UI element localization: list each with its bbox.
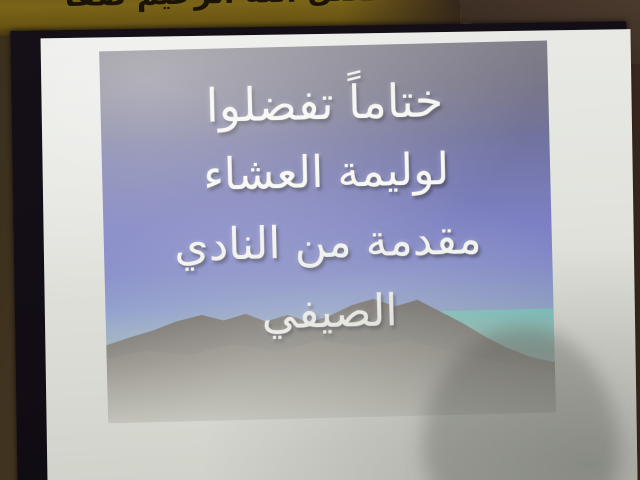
slide-text-block: ختاماً تفضلوا لوليمة العشاء مقدمة من الن… [100,62,555,353]
slide-text-line-1: ختاماً تفضلوا [100,62,550,143]
slide-text-line-2: لوليمة العشاء [101,132,551,213]
projection-screen-surface: ختاماً تفضلوا لوليمة العشاء مقدمة من الن… [41,29,638,480]
photograph-of-projection-screen: فضل الله الرحيم صفا ختاماً تفضلوا [0,0,640,480]
slide-text-line-3: مقدمة من النادي [103,202,553,283]
projection-screen-frame: ختاماً تفضلوا لوليمة العشاء مقدمة من الن… [10,21,633,480]
